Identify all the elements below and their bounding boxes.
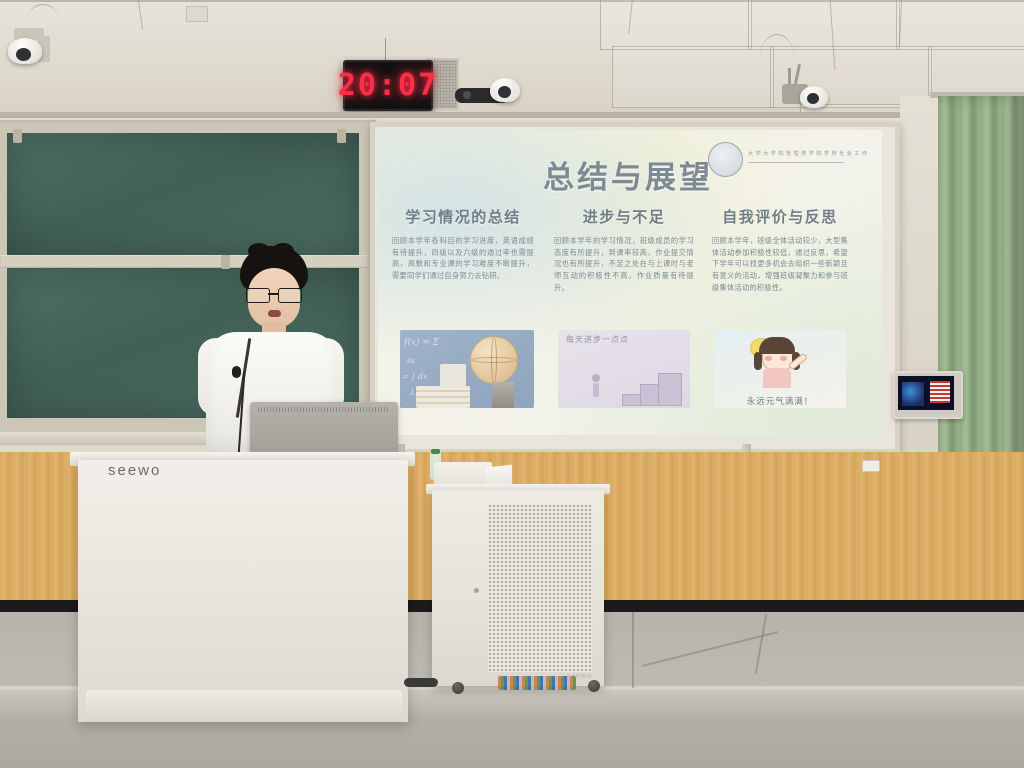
qr-display-screen <box>898 376 954 410</box>
wall-switch[interactable] <box>862 460 880 472</box>
slide-image-cartoon-girl: 永远元气满满！ <box>714 330 846 408</box>
window-curtain[interactable] <box>938 96 1024 492</box>
small-device <box>440 364 466 388</box>
column-2-heading: 进步与不足 <box>554 206 694 227</box>
globe-icon <box>470 336 518 384</box>
display-graphic <box>902 382 924 406</box>
floor-cable <box>404 678 438 687</box>
cabinet-latch[interactable] <box>474 588 479 593</box>
glasses-icon <box>246 288 302 301</box>
equipment-cabinet[interactable]: seewo <box>432 490 604 686</box>
university-emblem: 大学大学院管理类学院学校社会工作 <box>708 142 848 178</box>
cabinet-cables <box>498 676 576 690</box>
projection-screen[interactable]: 总结与展望 大学大学院管理类学院学校社会工作 学习情况的总结 回顾本学年各科目的… <box>378 130 882 435</box>
slide-image-stairs: 每天进步一点点 <box>558 330 690 408</box>
lower-floor <box>0 716 1024 768</box>
lectern-podium <box>78 460 408 722</box>
slide-column-2: 进步与不足 回顾本学年的学习情况，班级成员的学习态度有所提升，到课率较高，作业提… <box>554 206 694 293</box>
column-1-body: 回顾本学年各科目的学习进度，英语成绩有待提升，四级以及六级的通过率也需提高，高数… <box>392 235 534 282</box>
ceiling <box>0 0 1024 128</box>
cabinet-vent-mesh <box>488 504 592 672</box>
floor-seam-vertical <box>632 612 634 688</box>
podium-brand-label: seewo <box>108 462 161 479</box>
emblem-text: 大学大学院管理类学院学校社会工作 <box>748 150 870 157</box>
equation-text-2: ∂u <box>406 356 415 365</box>
column-1-heading: 学习情况的总结 <box>392 206 534 227</box>
chalkboard-panel-upper <box>7 133 359 255</box>
thumb-caption-middle: 每天进步一点点 <box>566 334 629 345</box>
presenter-mouth <box>268 310 281 317</box>
podium-base <box>86 690 402 722</box>
cartoon-girl-icon <box>748 336 808 388</box>
monitor-vent <box>258 407 390 412</box>
clock-hanger-wire <box>385 38 386 62</box>
pen-holder <box>492 382 514 408</box>
stack-of-books <box>416 386 470 408</box>
classroom-scene: 20:07 总结与展望 <box>0 0 1024 768</box>
column-3-body: 回顾本学年，班级全体活动较少，大型集体活动参加积极性较低，通过反思，希望下学年可… <box>712 235 848 293</box>
slide-column-1: 学习情况的总结 回顾本学年各科目的学习进度，英语成绩有待提升，四级以及六级的通过… <box>392 206 534 282</box>
clock-time: 20:07 <box>345 62 431 109</box>
ceiling-outlet <box>186 6 208 22</box>
led-wall-clock: 20:07 <box>343 60 433 111</box>
emblem-underline <box>748 162 844 163</box>
qr-code <box>930 381 950 403</box>
figure-climbing <box>590 374 602 404</box>
qr-display-icon[interactable] <box>893 371 963 419</box>
cabinet-caster-right <box>588 680 600 692</box>
column-2-body: 回顾本学年的学习情况，班级成员的学习态度有所提升，到课率较高，作业提交情况也有所… <box>554 235 694 293</box>
slide-image-chalkboard: f(x) = Σ ∂u = ∫ dx λ ≈ 0 π r² <box>400 330 534 408</box>
microphone-icon[interactable] <box>232 366 241 378</box>
bottle-cap <box>431 449 440 454</box>
wall-rail <box>0 112 1024 118</box>
cabinet-caster-left <box>452 682 464 694</box>
stairs-graphic <box>622 366 682 406</box>
column-3-heading: 自我评价与反思 <box>712 206 848 227</box>
equation-text-3: = ∫ dx <box>402 372 428 381</box>
thumb-caption-right: 永远元气满满！ <box>714 395 846 407</box>
slide-column-3: 自我评价与反思 回顾本学年，班级全体活动较少，大型集体活动参加积极性较低，通过反… <box>712 206 848 293</box>
emblem-circle <box>708 142 743 177</box>
equation-text-1: f(x) = Σ <box>404 338 439 348</box>
